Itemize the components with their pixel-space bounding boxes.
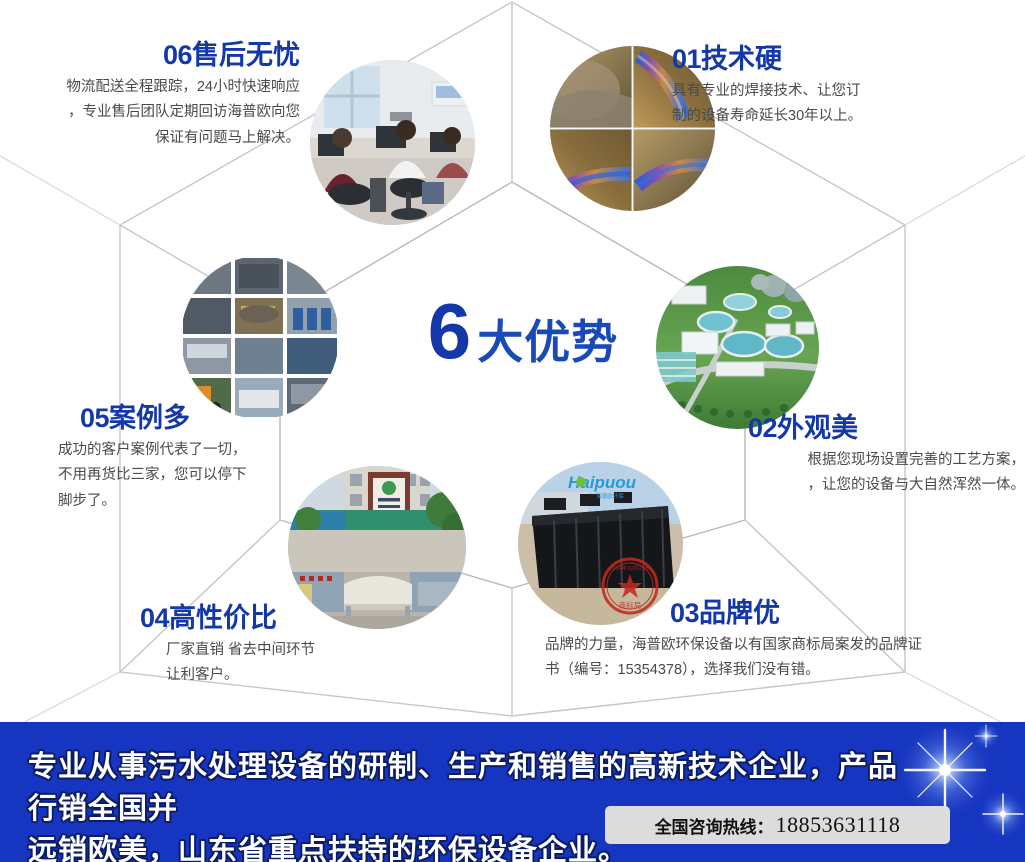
feature-05-line1: 成功的客户案例代表了一切， [58, 442, 247, 458]
leader-lower-left [0, 672, 120, 722]
feature-01-label: 技术硬 [701, 44, 782, 74]
feature-01-number: 01 [672, 44, 701, 74]
banner-line2: 远销欧美，山东省重点扶持的环保设备企业。 [28, 835, 628, 862]
feature-03-line2: 书（编号：15354378），选择我们没有错。 [545, 662, 820, 678]
feature-05-label: 案例多 [109, 403, 190, 433]
feature-03-label: 品牌优 [699, 598, 780, 628]
feature-02-number: 02 [748, 413, 777, 443]
feature-04: 04高性价比 厂家直销 省去中间环节 让利客户。 [140, 605, 440, 689]
feature-06-label: 售后无忧 [192, 40, 300, 70]
hotline-number: 18853631118 [776, 812, 901, 838]
feature-01-desc: 具有专业的焊接技术、让您订 制的设备寿命延长30年以上。 [672, 79, 1002, 130]
case-collage-photo [181, 256, 339, 419]
feature-03-line1: 品牌的力量，海普欧环保设备以有国家商标局案发的品牌证 [545, 637, 922, 653]
feature-01: 01技术硬 具有专业的焊接技术、让您订 制的设备寿命延长30年以上。 [672, 46, 1002, 130]
feature-05-title: 05案例多 [80, 405, 358, 432]
feature-02-label: 外观美 [777, 413, 858, 443]
hotline-label: 全国咨询热线： [655, 813, 774, 838]
feature-05-desc: 成功的客户案例代表了一切， 不用再货比三家，您可以停下 脚步了。 [58, 438, 358, 514]
feature-03-title: 03品牌优 [670, 600, 1015, 627]
feature-02-line2: ，让您的设备与大自然浑然一体。 [808, 477, 1025, 493]
leader-upper-right [905, 150, 1025, 225]
feature-02-title: 02外观美 [748, 415, 1025, 442]
feature-06-number: 06 [163, 40, 192, 70]
feature-03-desc: 品牌的力量，海普欧环保设备以有国家商标局案发的品牌证 书（编号：15354378… [545, 633, 1015, 684]
svg-text:海普欧环保: 海普欧环保 [596, 492, 624, 500]
leader-upper-left [0, 150, 120, 225]
feature-01-line1: 具有专业的焊接技术、让您订 [672, 83, 861, 99]
office-staff-photo [310, 60, 475, 225]
feature-04-desc: 厂家直销 省去中间环节 让利客户。 [166, 638, 440, 689]
feature-04-title: 04高性价比 [140, 605, 440, 632]
feature-02-line1: 根据您现场设置完善的工艺方案， [808, 452, 1025, 468]
feature-03: 03品牌优 品牌的力量，海普欧环保设备以有国家商标局案发的品牌证 书（编号：15… [545, 600, 1015, 684]
aerial-treatment-plant-photo [656, 266, 819, 429]
infographic-root: 6 大优势 [0, 0, 1025, 862]
banner-headline: 专业从事污水处理设备的研制、生产和销售的高新技术企业，产品行销全国并 远销欧美，… [28, 746, 908, 862]
feature-06-line3: 保证有问题马上解决。 [155, 130, 300, 146]
hotline-box[interactable]: 全国咨询热线： 18853631118 [605, 806, 950, 844]
feature-06-title: 06售后无忧 [0, 42, 300, 69]
svg-text:2014年10月23日: 2014年10月23日 [610, 564, 651, 572]
feature-05-line3: 脚步了。 [58, 493, 116, 509]
feature-02: 02外观美 根据您现场设置完善的工艺方案， ，让您的设备与大自然浑然一体。 [740, 415, 1025, 499]
feature-04-number: 04 [140, 603, 169, 633]
feature-04-label: 高性价比 [169, 603, 277, 633]
feature-04-line1: 厂家直销 省去中间环节 [166, 642, 315, 658]
feature-02-desc: 根据您现场设置完善的工艺方案， ，让您的设备与大自然浑然一体。 [740, 448, 1025, 499]
feature-06-line2: ，专业售后团队定期回访海普欧向您 [68, 104, 300, 120]
feature-03-number: 03 [670, 598, 699, 628]
feature-01-title: 01技术硬 [672, 46, 1002, 73]
feature-01-line2: 制的设备寿命延长30年以上。 [672, 108, 862, 124]
feature-06-line1: 物流配送全程跟踪，24小时快速响应 [66, 79, 300, 95]
feature-06: 06售后无忧 物流配送全程跟踪，24小时快速响应 ，专业售后团队定期回访海普欧向… [0, 42, 300, 151]
feature-05-number: 05 [80, 403, 109, 433]
feature-04-line2: 让利客户。 [166, 667, 239, 683]
feature-05: 05案例多 成功的客户案例代表了一切， 不用再货比三家，您可以停下 脚步了。 [58, 405, 358, 514]
feature-05-line2: 不用再货比三家，您可以停下 [58, 467, 247, 483]
feature-06-desc: 物流配送全程跟踪，24小时快速响应 ，专业售后团队定期回访海普欧向您 保证有问题… [0, 75, 300, 151]
